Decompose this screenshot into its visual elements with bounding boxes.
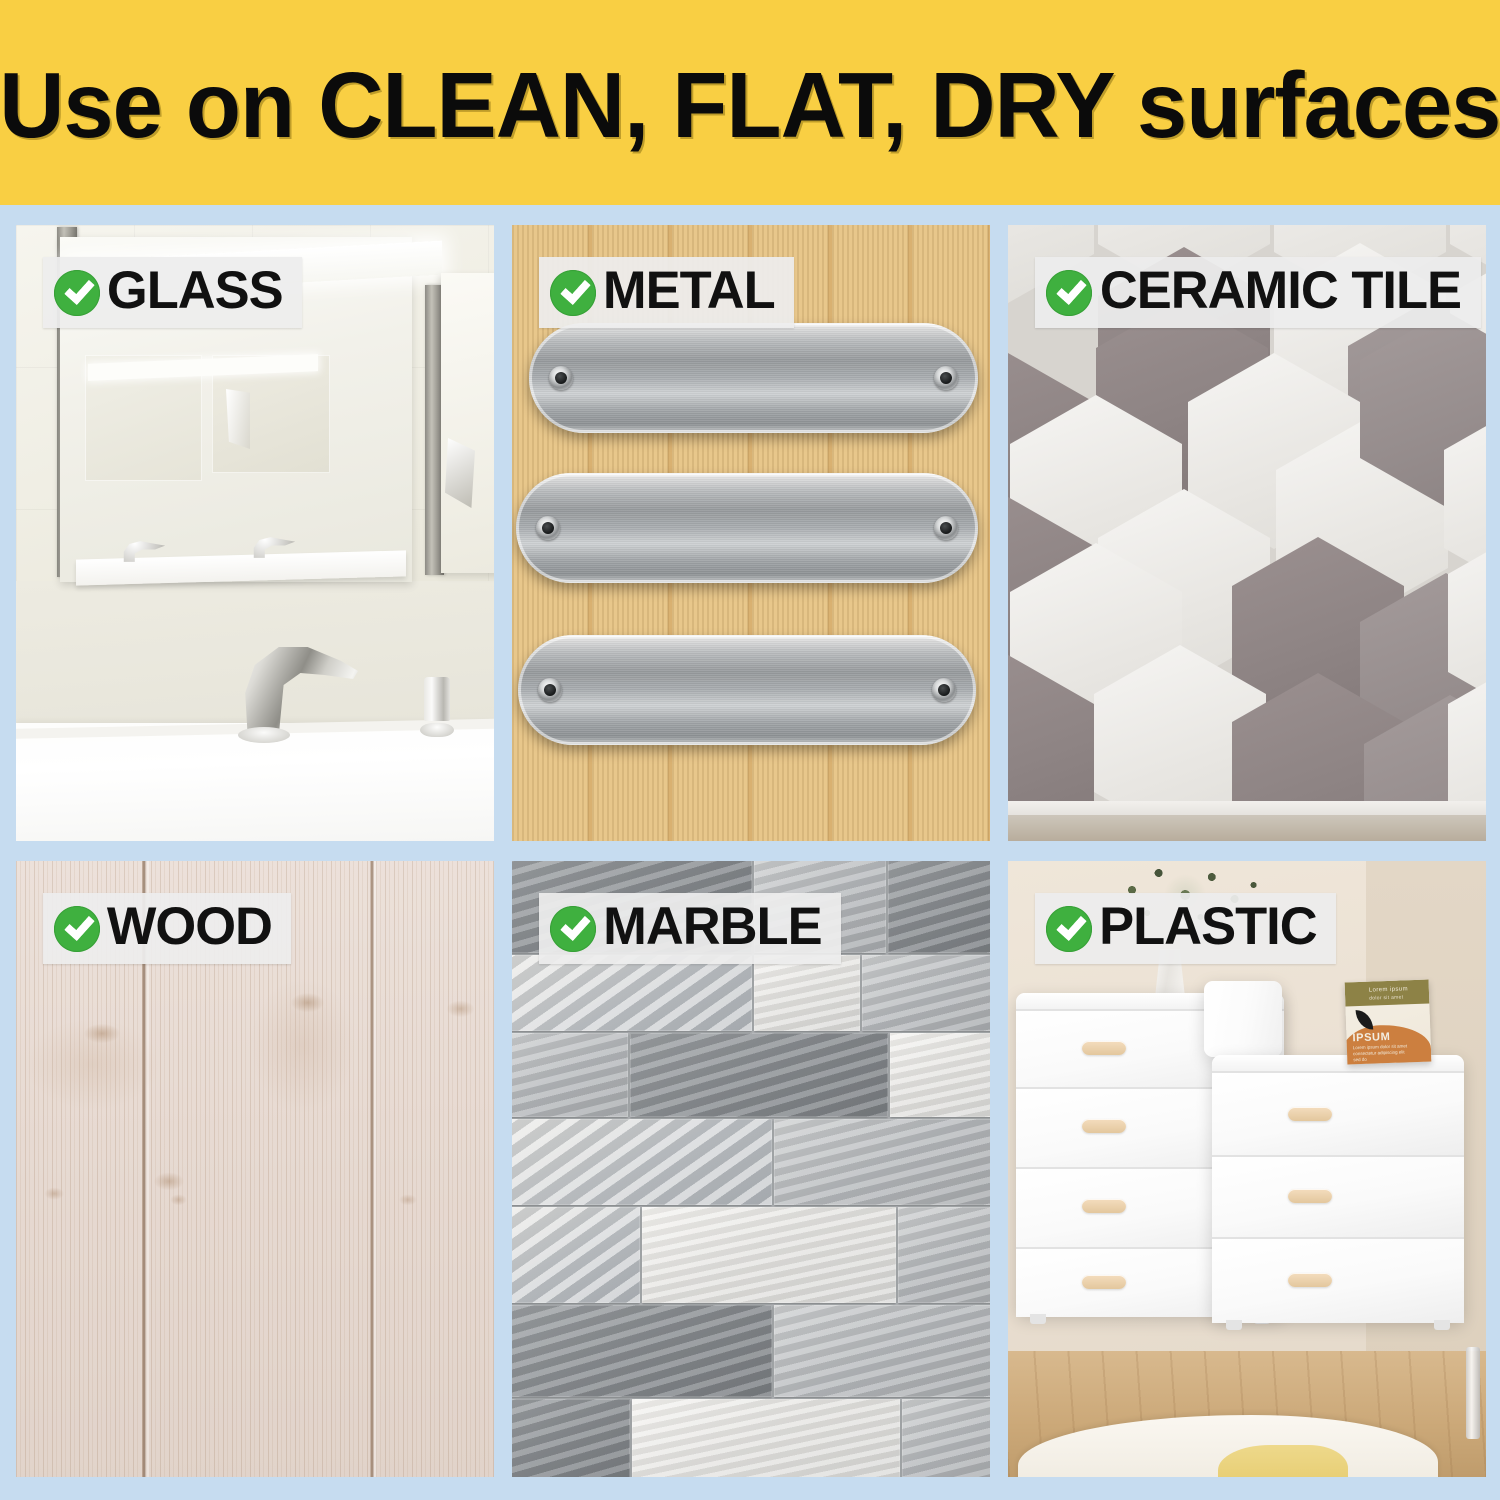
badge-plastic: PLASTIC — [1035, 893, 1336, 964]
plastic-dresser-back-top — [1204, 981, 1282, 1057]
marble-tile — [630, 1033, 888, 1117]
green-check-icon — [550, 906, 596, 952]
screw-icon — [549, 366, 573, 390]
badge-label-wood: WOOD — [103, 900, 276, 957]
marble-tile — [512, 1399, 630, 1477]
green-check-icon — [1046, 270, 1092, 316]
marble-tile — [890, 1033, 990, 1117]
drawer-handle[interactable] — [1082, 1275, 1126, 1289]
badge-glass: GLASS — [43, 257, 302, 328]
surface-grid: GLASS METAL — [16, 225, 1484, 1483]
marble-tile — [512, 1305, 772, 1397]
tile-floor-strip — [1008, 815, 1486, 841]
green-check-icon — [1046, 906, 1092, 952]
soap-dispenser-knob — [420, 677, 454, 737]
drawer-handle[interactable] — [1288, 1107, 1332, 1121]
marble-tile — [512, 1207, 640, 1303]
drawer-handle[interactable] — [1288, 1273, 1332, 1287]
drawer-handle[interactable] — [1082, 1041, 1126, 1055]
surface-panel-marble: MARBLE — [512, 861, 990, 1477]
metal-plate-3 — [518, 635, 976, 745]
drawer-handle[interactable] — [1082, 1119, 1126, 1133]
badge-metal: METAL — [539, 257, 794, 328]
metal-plate-2 — [516, 473, 978, 583]
screw-icon — [934, 366, 958, 390]
marble-tile — [862, 955, 990, 1031]
book-line-2: dolor sit amet — [1369, 994, 1403, 1001]
book-on-dresser: Lorem ipsum dolor sit amet IPSUM Lorem i… — [1345, 980, 1432, 1065]
marble-tile — [512, 1119, 772, 1205]
marble-tile — [754, 955, 860, 1031]
marble-tile — [512, 1033, 628, 1117]
plastic-dresser-right — [1212, 1055, 1464, 1321]
dresser-drawer — [1212, 1155, 1464, 1237]
leaf-icon — [1356, 1010, 1374, 1031]
marble-tile — [632, 1399, 900, 1477]
page-title: Use on CLEAN, FLAT, DRY surfaces — [0, 53, 1500, 152]
surface-panel-metal: METAL — [512, 225, 990, 841]
drawer-handle[interactable] — [1288, 1189, 1332, 1203]
dresser-drawer — [1212, 1237, 1464, 1323]
badge-label-ceramic-tile: CERAMIC TILE — [1096, 264, 1465, 321]
header-banner: Use on CLEAN, FLAT, DRY surfaces — [0, 0, 1500, 205]
marble-tile — [898, 1207, 990, 1303]
surface-panel-ceramic-tile: CERAMIC TILE — [1008, 225, 1486, 841]
marble-tile — [888, 861, 990, 953]
badge-ceramic-tile: CERAMIC TILE — [1035, 257, 1481, 328]
screw-icon — [934, 516, 958, 540]
infographic-root: Use on CLEAN, FLAT, DRY surfaces — [0, 0, 1500, 1500]
metal-rack — [1466, 1347, 1480, 1439]
badge-marble: MARBLE — [539, 893, 841, 964]
reflected-faucet-right — [251, 531, 297, 559]
marble-tile — [902, 1399, 990, 1477]
bathroom-mirror-secondary — [441, 273, 494, 573]
drawer-handle[interactable] — [1082, 1199, 1126, 1213]
surface-panel-wood: WOOD — [16, 861, 494, 1477]
badge-label-metal: METAL — [599, 264, 779, 321]
book-title: IPSUM — [1352, 1031, 1390, 1044]
marble-tile — [642, 1207, 896, 1303]
surface-panel-plastic: Lorem ipsum dolor sit amet IPSUM Lorem i… — [1008, 861, 1486, 1477]
reflected-faucet-left — [121, 535, 167, 563]
dresser-leg — [1434, 1320, 1450, 1330]
badge-wood: WOOD — [43, 893, 291, 964]
green-check-icon — [54, 270, 100, 316]
screw-icon — [538, 678, 562, 702]
screw-icon — [536, 516, 560, 540]
marble-tile — [774, 1305, 990, 1397]
sensor-faucet — [238, 635, 358, 735]
marble-tile — [774, 1119, 990, 1205]
screw-icon — [932, 678, 956, 702]
book-body-text: Lorem ipsum dolor sit amet consectetur a… — [1353, 1043, 1410, 1063]
green-check-icon — [54, 906, 100, 952]
dresser-leg — [1030, 1314, 1046, 1324]
dresser-leg — [1226, 1320, 1242, 1330]
marble-tile — [512, 955, 752, 1031]
reflected-dispenser — [226, 389, 250, 449]
surface-panel-glass: GLASS — [16, 225, 494, 841]
badge-label-glass: GLASS — [103, 264, 287, 321]
dresser-drawer — [1212, 1071, 1464, 1155]
metal-plate-1 — [529, 323, 978, 433]
badge-label-marble: MARBLE — [599, 900, 825, 957]
badge-label-plastic: PLASTIC — [1095, 900, 1320, 957]
green-check-icon — [550, 270, 596, 316]
